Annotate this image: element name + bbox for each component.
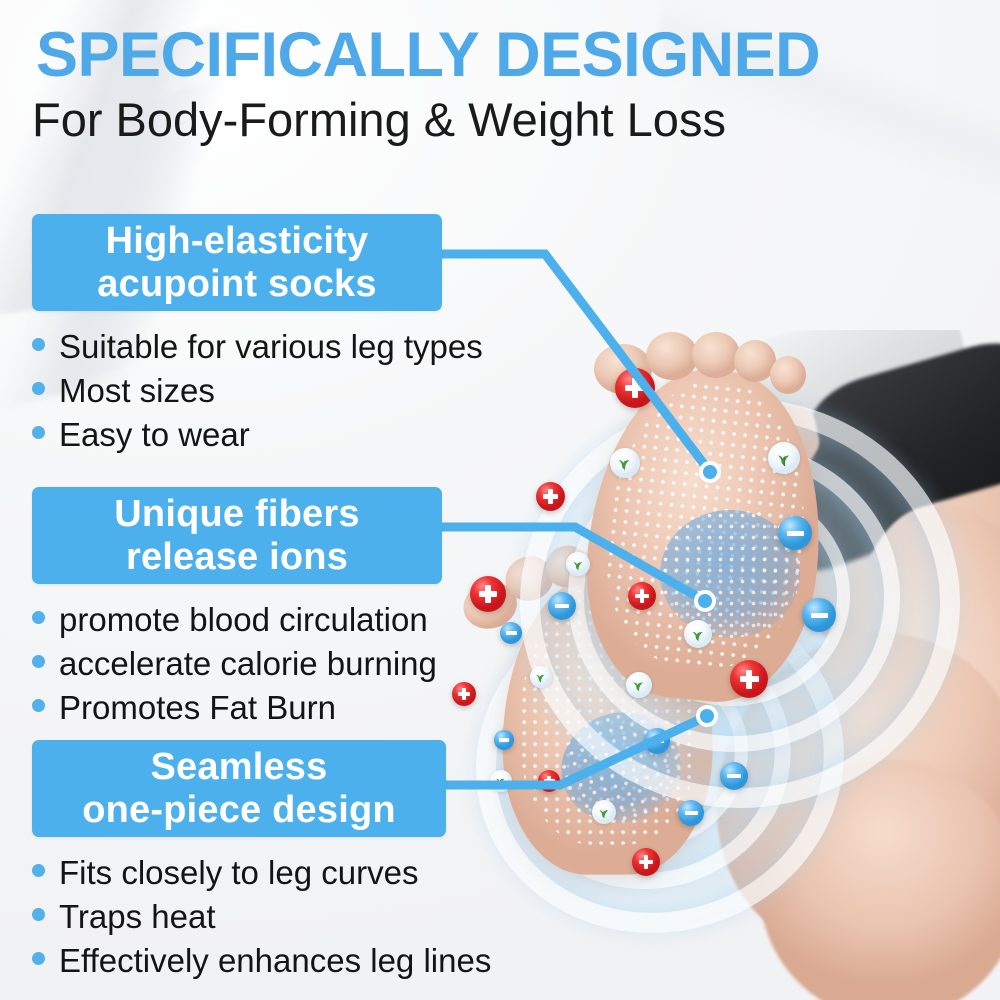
- bullet-text: Easy to wear: [59, 413, 250, 457]
- page-subtitle: For Body-Forming & Weight Loss: [32, 96, 726, 143]
- bullet-dot: [32, 655, 45, 668]
- list-item: Traps heat: [32, 895, 491, 939]
- bullet-dot: [32, 611, 45, 624]
- feature-bullets-3: Fits closely to leg curves Traps heat Ef…: [32, 851, 491, 983]
- negative-ion-badge: [802, 598, 836, 632]
- feature-tag-3: Seamless one-piece design: [32, 740, 446, 837]
- list-item: Suitable for various leg types: [32, 325, 483, 369]
- feature-bullets-1: Suitable for various leg types Most size…: [32, 325, 483, 457]
- herb-badge: [566, 552, 590, 576]
- leaf-icon: [690, 626, 707, 643]
- positive-ion-badge: [632, 848, 660, 876]
- list-item: Most sizes: [32, 369, 483, 413]
- negative-ion-badge: [548, 592, 576, 620]
- bullet-dot: [32, 699, 45, 712]
- list-item: accelerate calorie burning: [32, 642, 442, 686]
- negative-ion-badge: [720, 762, 748, 790]
- bullet-dot: [32, 864, 45, 877]
- negative-ion-badge: [678, 800, 704, 826]
- bullet-dot: [32, 338, 45, 351]
- herb-badge: [530, 666, 552, 688]
- herb-badge: [490, 770, 512, 792]
- herb-badge: [626, 672, 652, 698]
- positive-ion-badge: [536, 482, 565, 511]
- page-title: SPECIFICALLY DESIGNED: [36, 24, 820, 87]
- herb-badge: [610, 448, 640, 478]
- leaf-icon: [571, 557, 586, 572]
- leaf-icon: [616, 454, 634, 472]
- toe: [692, 332, 740, 378]
- feature-block-1: High-elasticity acupoint socks Suitable …: [32, 214, 483, 473]
- herb-badge: [592, 800, 616, 824]
- herb-badge: [684, 620, 712, 648]
- bullet-dot: [32, 952, 45, 965]
- feature-tag-1: High-elasticity acupoint socks: [32, 214, 442, 311]
- feature-tag-3-line1: Seamless: [50, 746, 428, 789]
- list-item: Fits closely to leg curves: [32, 851, 491, 895]
- bullet-text: Suitable for various leg types: [59, 325, 483, 369]
- list-item: Easy to wear: [32, 413, 483, 457]
- bullet-dot: [32, 382, 45, 395]
- negative-ion-badge: [778, 516, 812, 550]
- herb-badge: [768, 442, 800, 474]
- bullet-dot: [32, 908, 45, 921]
- bullet-dot: [32, 426, 45, 439]
- positive-ion-badge: [628, 582, 656, 610]
- feature-tag-2-line1: Unique fibers: [50, 493, 424, 536]
- list-item: Promotes Fat Burn: [32, 686, 442, 730]
- feature-block-3: Seamless one-piece design Fits closely t…: [32, 740, 491, 999]
- toe: [770, 356, 806, 394]
- bullet-text: Effectively enhances leg lines: [59, 939, 491, 983]
- feature-tag-3-line2: one-piece design: [50, 789, 428, 832]
- feature-tag-2: Unique fibers release ions: [32, 487, 442, 584]
- leaf-icon: [597, 805, 612, 820]
- positive-ion-badge: [730, 660, 768, 698]
- feature-tag-2-line2: release ions: [50, 536, 424, 579]
- infographic-canvas: SPECIFICALLY DESIGNED For Body-Forming &…: [0, 0, 1000, 1000]
- list-item: Effectively enhances leg lines: [32, 939, 491, 983]
- feature-tag-1-line1: High-elasticity: [50, 220, 424, 263]
- negative-ion-badge: [500, 622, 522, 644]
- negative-ion-badge: [494, 730, 514, 750]
- bullet-text: promote blood circulation: [59, 598, 428, 642]
- list-item: promote blood circulation: [32, 598, 442, 642]
- bullet-text: Promotes Fat Burn: [59, 686, 336, 730]
- bullet-text: accelerate calorie burning: [59, 642, 437, 686]
- feature-block-2: Unique fibers release ions promote blood…: [32, 487, 442, 746]
- feature-bullets-2: promote blood circulation accelerate cal…: [32, 598, 442, 730]
- leaf-icon: [631, 677, 647, 693]
- leaf-icon: [534, 670, 548, 684]
- leaf-icon: [775, 449, 794, 468]
- positive-ion-badge: [470, 576, 506, 612]
- leaf-icon: [494, 774, 508, 788]
- product-photo: [430, 330, 1000, 1000]
- bullet-text: Traps heat: [59, 895, 216, 939]
- positive-ion-badge: [538, 770, 560, 792]
- bullet-text: Fits closely to leg curves: [59, 851, 418, 895]
- positive-ion-badge: [615, 368, 655, 408]
- positive-ion-badge: [452, 682, 476, 706]
- negative-ion-badge: [644, 728, 670, 754]
- feature-tag-1-line2: acupoint socks: [50, 263, 424, 306]
- bullet-text: Most sizes: [59, 369, 215, 413]
- toe: [646, 332, 698, 380]
